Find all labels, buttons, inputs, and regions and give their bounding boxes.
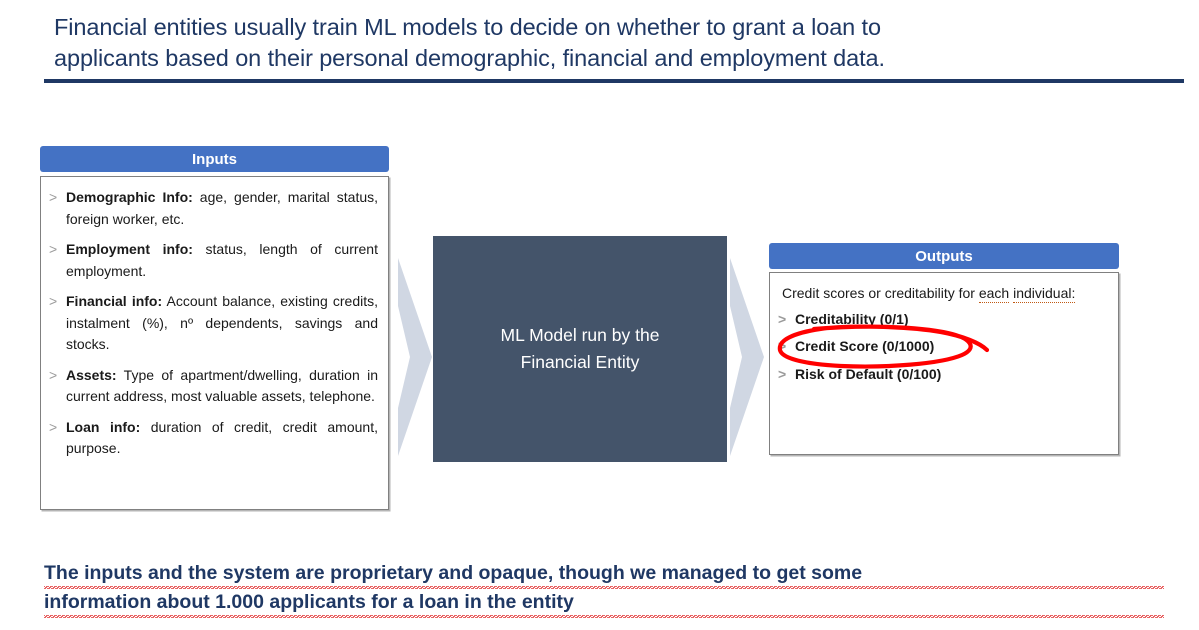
outputs-intro-each: each bbox=[979, 285, 1009, 303]
title-divider-rule bbox=[44, 79, 1184, 83]
outputs-intro-text: Credit scores or creditability for each … bbox=[782, 283, 1106, 305]
inputs-item-lead: Financial info: bbox=[66, 293, 162, 309]
list-item: > Risk of Default (0/100) bbox=[778, 364, 1106, 386]
inputs-panel-body: > Demographic Info: age, gender, marital… bbox=[40, 176, 389, 510]
list-item: > Loan info: duration of credit, credit … bbox=[49, 417, 378, 460]
list-item: > Credit Score (0/1000) bbox=[778, 336, 1106, 358]
inputs-panel-header: Inputs bbox=[40, 146, 389, 172]
outputs-item-label: Creditability (0/1) bbox=[795, 309, 1106, 331]
bottom-statement: The inputs and the system are proprietar… bbox=[44, 560, 1164, 618]
inputs-panel-header-label: Inputs bbox=[192, 151, 237, 168]
chevron-right-icon: > bbox=[49, 365, 66, 387]
list-item: > Financial info: Account balance, exist… bbox=[49, 291, 378, 356]
ml-model-process-box: ML Model run by the Financial Entity bbox=[433, 236, 727, 462]
outputs-item-label: Risk of Default (0/100) bbox=[795, 364, 1106, 386]
chevron-right-icon: > bbox=[778, 336, 795, 358]
outputs-list: > Creditability (0/1) > Credit Score (0/… bbox=[778, 309, 1106, 386]
chevron-right-icon: > bbox=[49, 239, 66, 261]
outputs-panel-body: Credit scores or creditability for each … bbox=[769, 272, 1119, 455]
bottom-statement-line-2: information about 1.000 applicants for a… bbox=[44, 589, 1164, 618]
chevron-right-icon: > bbox=[49, 187, 66, 209]
slide-title: Financial entities usually train ML mode… bbox=[54, 12, 1154, 74]
inputs-item-text: Loan info: duration of credit, credit am… bbox=[66, 417, 378, 460]
outputs-panel-header: Outputs bbox=[769, 243, 1119, 269]
inputs-item-lead: Loan info: bbox=[66, 419, 140, 435]
outputs-panel-header-label: Outputs bbox=[915, 248, 973, 265]
chevron-right-icon: > bbox=[778, 364, 795, 386]
list-item: > Creditability (0/1) bbox=[778, 309, 1106, 331]
inputs-item-lead: Employment info: bbox=[66, 241, 193, 257]
slide-title-line-1: Financial entities usually train ML mode… bbox=[54, 12, 1154, 43]
ml-model-label: ML Model run by the Financial Entity bbox=[501, 322, 660, 376]
inputs-item-text: Employment info: status, length of curre… bbox=[66, 239, 378, 282]
chevron-right-icon: > bbox=[49, 417, 66, 439]
list-item: > Employment info: status, length of cur… bbox=[49, 239, 378, 282]
ml-model-label-line-1: ML Model run by the bbox=[501, 325, 660, 345]
chevron-right-icon: > bbox=[49, 291, 66, 313]
slide-title-line-2: applicants based on their personal demog… bbox=[54, 43, 1154, 74]
list-item: > Assets: Type of apartment/dwelling, du… bbox=[49, 365, 378, 408]
inputs-list: > Demographic Info: age, gender, marital… bbox=[49, 187, 378, 460]
inputs-item-text: Demographic Info: age, gender, marital s… bbox=[66, 187, 378, 230]
inputs-item-lead: Assets: bbox=[66, 367, 117, 383]
chevron-right-icon: > bbox=[778, 309, 795, 331]
bottom-statement-line-1: The inputs and the system are proprietar… bbox=[44, 560, 1164, 589]
inputs-item-text: Assets: Type of apartment/dwelling, dura… bbox=[66, 365, 378, 408]
inputs-item-lead: Demographic Info: bbox=[66, 189, 193, 205]
arrow-inputs-to-model bbox=[396, 258, 436, 456]
arrow-model-to-outputs bbox=[728, 258, 768, 456]
inputs-item-text: Financial info: Account balance, existin… bbox=[66, 291, 378, 356]
outputs-item-label: Credit Score (0/1000) bbox=[795, 336, 1106, 358]
outputs-intro-part1: Credit scores or creditability for bbox=[782, 285, 979, 301]
list-item: > Demographic Info: age, gender, marital… bbox=[49, 187, 378, 230]
ml-model-label-line-2: Financial Entity bbox=[521, 352, 640, 372]
outputs-intro-individual: individual: bbox=[1013, 285, 1075, 303]
